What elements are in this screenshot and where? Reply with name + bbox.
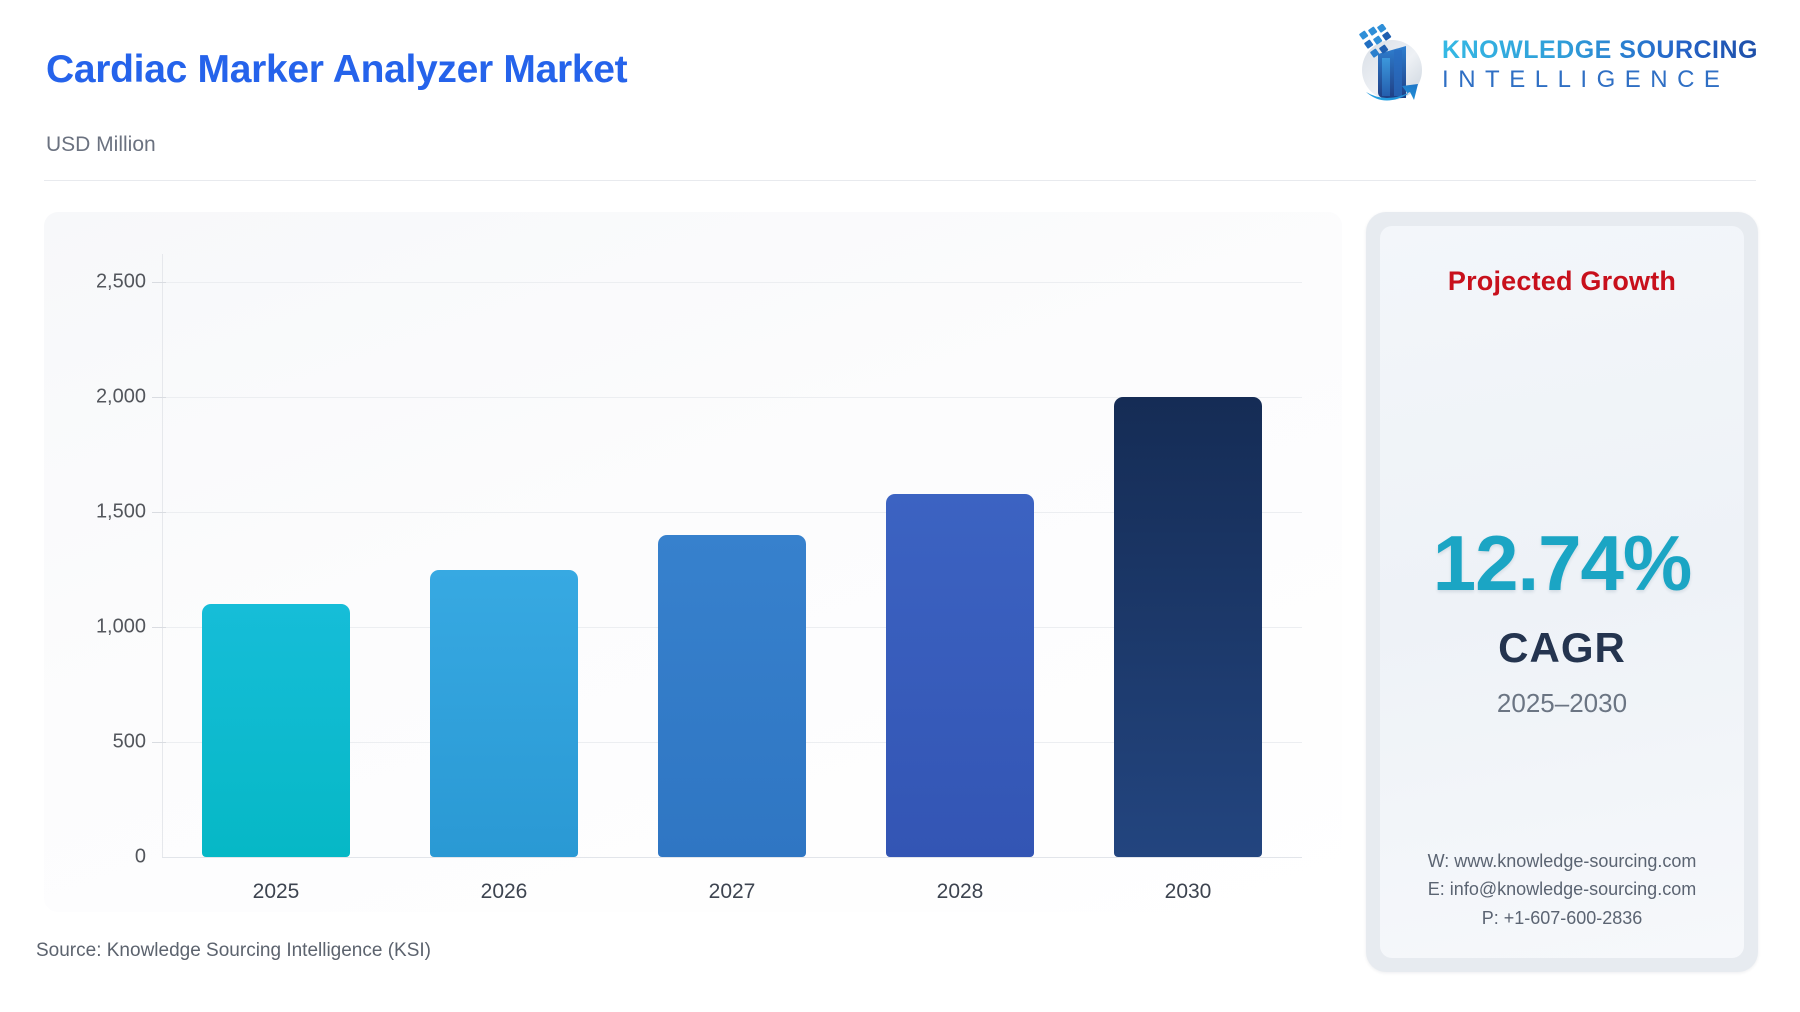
cagr-period: 2025–2030 [1380,688,1744,719]
bar-2026[interactable] [430,570,578,857]
y-axis-tick-label: 1,000 [26,616,146,639]
y-axis-tick-label: 500 [26,731,146,754]
logo-line-intelligence: INTELLIGENCE [1442,65,1758,95]
y-tick-mark [152,282,166,283]
unit-subtitle: USD Million [46,133,156,157]
cagr-value: 12.74% [1380,524,1744,602]
logo-wordmark: KNOWLEDGE SOURCING INTELLIGENCE [1442,37,1758,95]
infographic-page: Cardiac Marker Analyzer Market USD Milli… [0,0,1800,1012]
y-axis-line [162,254,163,858]
y-tick-mark [152,512,166,513]
chart-panel: 05001,0001,5002,0002,5002025202620272028… [44,212,1342,912]
header: Cardiac Marker Analyzer Market USD Milli… [0,0,1800,178]
projected-growth-card-inner: Projected Growth 12.74% CAGR 2025–2030 W… [1380,226,1744,958]
brand-logo: KNOWLEDGE SOURCING INTELLIGENCE [1348,24,1758,108]
contact-phone: P: +1-607-600-2836 [1380,904,1744,932]
projected-growth-card: Projected Growth 12.74% CAGR 2025–2030 W… [1366,212,1758,972]
bar-column[interactable] [647,535,817,857]
gridline [162,282,1302,283]
bar-2028[interactable] [886,494,1034,857]
y-axis-tick-label: 2,000 [26,386,146,409]
x-axis-label-2027: 2027 [632,880,832,904]
contact-email[interactable]: E: info@knowledge-sourcing.com [1380,875,1744,903]
logo-globe-icon [1348,24,1432,108]
bar-chart-plot: 05001,0001,5002,0002,5002025202620272028… [44,212,1342,912]
y-axis-tick-label: 1,500 [26,501,146,524]
y-tick-mark [152,742,166,743]
x-axis-baseline [162,857,1302,858]
bar-2025[interactable] [202,604,350,857]
bar-2027[interactable] [658,535,806,857]
projected-growth-title: Projected Growth [1380,266,1744,297]
x-axis-label-2025: 2025 [176,880,376,904]
header-divider [44,180,1756,181]
y-tick-mark [152,627,166,628]
cagr-label: CAGR [1380,624,1744,672]
contact-block: W: www.knowledge-sourcing.com E: info@kn… [1380,847,1744,932]
bar-column[interactable] [419,570,589,857]
x-axis-label-2026: 2026 [404,880,604,904]
y-axis-tick-label: 2,500 [26,271,146,294]
bar-2030[interactable] [1114,397,1262,857]
source-note: Source: Knowledge Sourcing Intelligence … [36,940,431,962]
contact-website[interactable]: W: www.knowledge-sourcing.com [1380,847,1744,875]
y-axis-tick-label: 0 [26,846,146,869]
logo-line-knowledge-sourcing: KNOWLEDGE SOURCING [1442,37,1758,63]
x-axis-label-2030: 2030 [1088,880,1288,904]
bar-column[interactable] [1103,397,1273,857]
x-axis-label-2028: 2028 [860,880,1060,904]
bar-column[interactable] [875,494,1045,857]
bar-column[interactable] [191,604,361,857]
page-title: Cardiac Marker Analyzer Market [46,48,627,92]
y-tick-mark [152,397,166,398]
